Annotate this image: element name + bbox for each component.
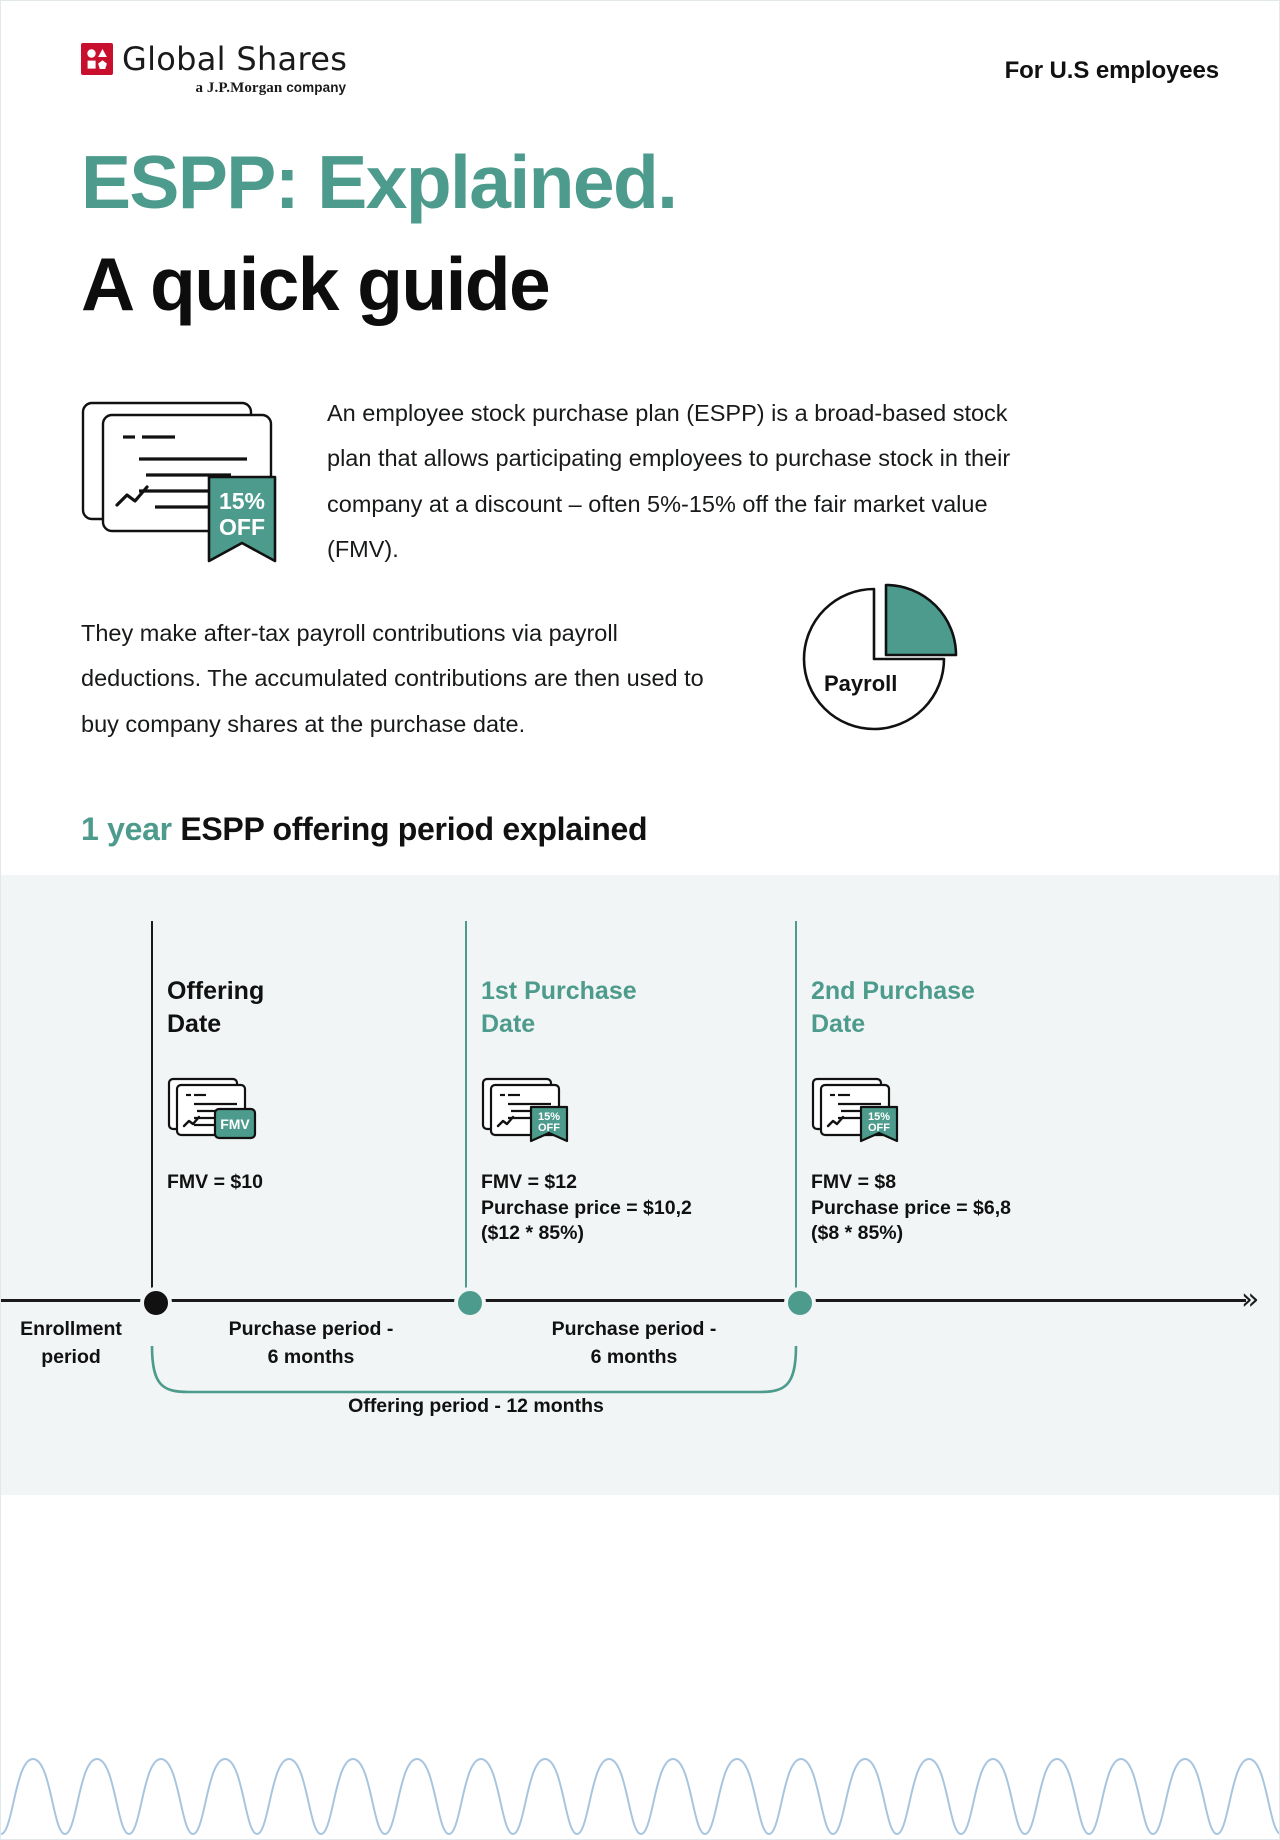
logo-row: Global Shares xyxy=(81,43,347,75)
logo-tagline-serif: a J.P.Morgan xyxy=(195,80,282,96)
column-title-line1: 2nd Purchase xyxy=(811,977,975,1005)
column-title-purchase-2: 2nd Purchase Date xyxy=(811,975,975,1040)
timeline-axis: » Enrollment period Purchase period - 6 … xyxy=(1,1298,1280,1302)
intro-paragraph-1: An employee stock purchase plan (ESPP) i… xyxy=(327,391,1027,572)
column-title-line2: Date xyxy=(481,1010,535,1038)
wave-decoration xyxy=(1,1719,1280,1839)
payroll-pie-chart xyxy=(796,573,976,738)
fact-line: FMV = $12 xyxy=(481,1171,577,1193)
column-rule xyxy=(795,921,797,1303)
column-title-line2: Date xyxy=(811,1010,865,1038)
svg-text:15%: 15% xyxy=(219,488,265,514)
purchase1-document-icon: 15% OFF xyxy=(481,1075,577,1147)
column-title-purchase-1: 1st Purchase Date xyxy=(481,975,637,1040)
fact-line: FMV = $8 xyxy=(811,1171,896,1193)
fact-line: FMV = $10 xyxy=(167,1171,263,1193)
section-heading-rest: ESPP offering period explained xyxy=(180,811,647,847)
offering-facts: FMV = $10 xyxy=(167,1170,263,1196)
caption-line1: Purchase period - xyxy=(552,1318,717,1340)
discount-badge-line2: OFF xyxy=(538,1122,560,1134)
purchase2-document-icon: 15% OFF xyxy=(811,1075,907,1147)
axis-caption-enrollment: Enrollment period xyxy=(1,1316,141,1371)
offering-document-icon: FMV xyxy=(167,1075,263,1147)
infographic-page: Global Shares a J.P.Morgan company For U… xyxy=(0,0,1280,1840)
page-title-line1: ESPP: Explained. xyxy=(81,143,676,222)
audience-label: For U.S employees xyxy=(1005,57,1219,85)
section-heading-accent: 1 year xyxy=(81,811,172,847)
caption-line1: Enrollment xyxy=(20,1318,122,1340)
discount-badge-line2: OFF xyxy=(868,1122,890,1134)
purchase2-facts: FMV = $8 Purchase price = $6,8 ($8 * 85%… xyxy=(811,1170,1011,1247)
node-offering-date xyxy=(140,1287,172,1319)
timeline-panel: Offering Date FMV xyxy=(1,875,1280,1495)
fact-line: Purchase price = $6,8 xyxy=(811,1197,1011,1219)
logo-tagline-company: company xyxy=(286,80,346,95)
column-rule xyxy=(465,921,467,1303)
column-rule xyxy=(151,921,153,1303)
column-title-line1: Offering xyxy=(167,977,264,1005)
document-discount-icon: 15% OFF xyxy=(79,393,289,568)
intro-paragraph-2: They make after-tax payroll contribution… xyxy=(81,611,741,747)
global-shares-mark-icon xyxy=(81,43,113,75)
fact-line: ($8 * 85%) xyxy=(811,1222,903,1244)
page-header: Global Shares a J.P.Morgan company For U… xyxy=(1,1,1280,131)
offering-period-caption: Offering period - 12 months xyxy=(1,1395,1280,1418)
axis-arrow-icon: » xyxy=(1241,1285,1259,1315)
node-purchase-1 xyxy=(454,1287,486,1319)
brace-caption-text: Offering period - 12 months xyxy=(348,1395,604,1418)
column-title-offering: Offering Date xyxy=(167,975,264,1040)
fact-line: Purchase price = $10,2 xyxy=(481,1197,692,1219)
logo-wordmark: Global Shares xyxy=(122,43,347,75)
caption-line1: Purchase period - xyxy=(229,1318,394,1340)
fact-line: ($12 * 85%) xyxy=(481,1222,584,1244)
page-title-line2: A quick guide xyxy=(81,245,549,324)
purchase1-facts: FMV = $12 Purchase price = $10,2 ($12 * … xyxy=(481,1170,692,1247)
column-title-line1: 1st Purchase xyxy=(481,977,637,1005)
pie-slice-label: Payroll xyxy=(824,671,897,697)
logo-tagline: a J.P.Morgan company xyxy=(195,80,346,97)
column-title-line2: Date xyxy=(167,1010,221,1038)
brand-logo: Global Shares a J.P.Morgan company xyxy=(81,43,347,97)
fmv-badge-text: FMV xyxy=(220,1116,250,1132)
node-purchase-2 xyxy=(784,1287,816,1319)
caption-line2: period xyxy=(41,1346,101,1368)
axis-line xyxy=(1,1299,1246,1302)
svg-text:OFF: OFF xyxy=(219,514,265,540)
section-heading: 1 year ESPP offering period explained xyxy=(81,811,647,848)
